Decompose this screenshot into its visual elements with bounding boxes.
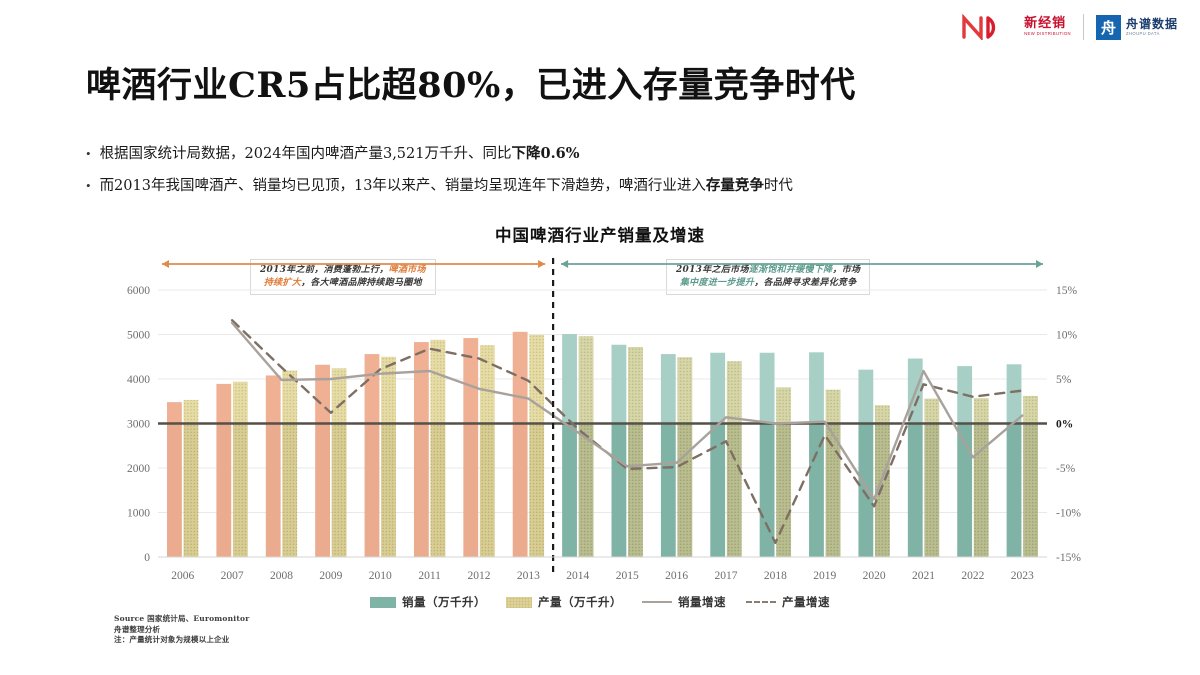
bar-sales: [513, 332, 528, 424]
bar-sales: [365, 424, 380, 558]
bullet-marker: •: [86, 144, 91, 163]
x-axis-tick: 2020: [863, 570, 886, 582]
bar-sales: [809, 352, 824, 423]
bar-output: [875, 405, 890, 423]
bar-sales: [1007, 424, 1022, 558]
line-sales-growth: [232, 323, 1022, 499]
y2-axis-tick: 15%: [1056, 285, 1078, 297]
chart-area: 0100020003000400050006000-15%-10%-5%0%5%…: [110, 252, 1095, 597]
new-distribution-logo: 新经销 NEW DISTRIBUTION: [961, 14, 1071, 40]
bar-sales: [266, 375, 281, 423]
bar-sales: [266, 424, 281, 558]
bar-output: [184, 400, 199, 424]
legend-label: 产量（万千升）: [538, 594, 622, 610]
bar-sales: [414, 424, 429, 558]
legend-label: 销量增速: [678, 594, 726, 610]
x-axis-tick: 2021: [912, 570, 935, 582]
bar-sales: [513, 424, 528, 558]
bar-output: [776, 424, 791, 558]
x-axis-tick: 2022: [961, 570, 984, 582]
bar-sales: [612, 424, 627, 558]
bar-sales: [661, 354, 676, 423]
bar-sales: [908, 424, 923, 558]
y-axis-tick: 1000: [127, 508, 150, 520]
bar-sales: [463, 424, 478, 558]
bar-output: [233, 424, 248, 558]
bar-sales: [315, 424, 330, 558]
x-axis-tick: 2023: [1011, 570, 1034, 582]
bullet-text: 根据国家统计局数据，2024年国内啤酒产量3,521万千升、同比下降0.6%: [100, 144, 580, 164]
legend-line-sales-growth: [642, 601, 672, 603]
bar-sales: [167, 402, 182, 423]
y2-axis-tick: 10%: [1056, 330, 1078, 342]
x-axis-tick: 2014: [566, 570, 589, 582]
bar-output: [924, 424, 939, 558]
list-item: • 根据国家统计局数据，2024年国内啤酒产量3,521万千升、同比下降0.6%: [86, 144, 1096, 164]
x-axis-tick: 2009: [319, 570, 342, 582]
bar-sales: [463, 338, 478, 423]
bar-sales: [216, 424, 231, 558]
logo-divider: [1083, 14, 1084, 40]
era-arrow-left-end-head: [538, 260, 545, 268]
y2-axis-tick: 0%: [1056, 419, 1073, 431]
x-axis-tick: 2016: [665, 570, 688, 582]
bar-sales: [661, 424, 676, 558]
bar-sales: [858, 424, 873, 558]
bar-output: [579, 336, 594, 423]
bar-output: [826, 390, 841, 424]
bar-output: [480, 345, 495, 423]
y2-axis-tick: 5%: [1056, 374, 1072, 386]
bar-output: [974, 424, 989, 558]
beer-production-sales-chart: 0100020003000400050006000-15%-10%-5%0%5%…: [110, 252, 1095, 597]
bar-output: [727, 424, 742, 558]
legend-label: 销量（万千升）: [402, 594, 486, 610]
bar-sales: [315, 365, 330, 424]
bar-sales: [710, 353, 725, 424]
bar-output: [529, 335, 544, 424]
bar-output: [431, 340, 446, 424]
x-axis-tick: 2007: [221, 570, 244, 582]
x-axis-tick: 2010: [369, 570, 392, 582]
nd-logo-en: NEW DISTRIBUTION: [1024, 32, 1071, 36]
bar-output: [628, 424, 643, 558]
y-axis-tick: 5000: [127, 330, 150, 342]
chart-title: 中国啤酒行业产销量及增速: [0, 222, 1200, 246]
bar-sales: [167, 424, 182, 558]
bar-output: [381, 424, 396, 558]
brand-logo-bar: 新经销 NEW DISTRIBUTION 舟 舟谱数据 ZHOUPU DATA: [961, 14, 1178, 40]
bar-output: [184, 424, 199, 558]
legend-swatch-sales: [370, 597, 396, 608]
bar-sales: [365, 354, 380, 423]
source-line-3: 注：产量统计对象为规模以上企业: [114, 635, 249, 646]
x-axis-tick: 2019: [813, 570, 836, 582]
nd-logo-cn: 新经销: [1024, 17, 1071, 30]
y-axis-tick: 2000: [127, 463, 150, 475]
bar-sales: [612, 345, 627, 424]
bar-output: [924, 399, 939, 424]
slide: 新经销 NEW DISTRIBUTION 舟 舟谱数据 ZHOUPU DATA …: [0, 0, 1200, 675]
x-axis-tick: 2006: [171, 570, 194, 582]
bar-output: [282, 424, 297, 558]
legend-item-sales-growth: 销量增速: [642, 594, 726, 610]
bar-output: [579, 424, 594, 558]
x-axis-tick: 2018: [764, 570, 787, 582]
zhoupu-logo-en: ZHOUPU DATA: [1126, 32, 1178, 36]
zhoupu-logo: 舟 舟谱数据 ZHOUPU DATA: [1096, 15, 1178, 40]
chart-legend: 销量（万千升） 产量（万千升） 销量增速 产量增速: [0, 594, 1200, 610]
bar-output: [529, 424, 544, 558]
zhoupu-mark-char: 舟: [1101, 17, 1116, 38]
source-line-2: 舟谱整理分析: [114, 625, 249, 636]
bar-output: [974, 398, 989, 423]
x-axis-tick: 2015: [616, 570, 639, 582]
legend-swatch-output: [506, 597, 532, 608]
bar-output: [1023, 396, 1038, 424]
x-axis-tick: 2008: [270, 570, 293, 582]
page-title: 啤酒行业CR5占比超80%，已进入存量竞争时代: [86, 57, 856, 108]
source-note: Source 国家统计局、Euromonitor 舟谱整理分析 注：产量统计对象…: [114, 614, 249, 646]
bar-sales: [216, 384, 231, 424]
y-axis-tick: 0: [144, 552, 150, 564]
bar-sales: [1007, 364, 1022, 423]
bar-output: [677, 424, 692, 558]
line-output-growth: [232, 320, 1022, 543]
y-axis-tick: 4000: [127, 374, 150, 386]
bar-output: [727, 361, 742, 423]
bar-output: [677, 357, 692, 423]
legend-item-sales-volume: 销量（万千升）: [370, 594, 486, 610]
zhoupu-logo-cn: 舟谱数据: [1126, 18, 1178, 30]
bar-sales: [858, 370, 873, 424]
y2-axis-tick: -15%: [1056, 552, 1081, 564]
nd-monogram-icon: [961, 14, 1019, 40]
y2-axis-tick: -10%: [1056, 508, 1081, 520]
bullet-list: • 根据国家统计局数据，2024年国内啤酒产量3,521万千升、同比下降0.6%…: [86, 144, 1096, 208]
bar-output: [480, 424, 495, 558]
list-item: • 而2013年我国啤酒产、销量均已见顶，13年以来产、销量均呈现连年下滑趋势，…: [86, 176, 1096, 196]
era-arrow-right-start-head: [561, 260, 568, 268]
y-axis-tick: 3000: [127, 419, 150, 431]
bar-sales: [562, 424, 577, 558]
bullet-text: 而2013年我国啤酒产、销量均已见顶，13年以来产、销量均呈现连年下滑趋势，啤酒…: [100, 176, 793, 196]
bar-output: [431, 424, 446, 558]
zhoupu-mark-icon: 舟: [1096, 15, 1121, 40]
bullet-marker: •: [86, 176, 91, 195]
source-line-1: Source 国家统计局、Euromonitor: [114, 614, 249, 625]
legend-line-output-growth: [746, 601, 776, 603]
legend-item-output-volume: 产量（万千升）: [506, 594, 622, 610]
legend-item-output-growth: 产量增速: [746, 594, 830, 610]
x-axis-tick: 2013: [517, 570, 540, 582]
bar-output: [233, 382, 248, 424]
y2-axis-tick: -5%: [1056, 463, 1076, 475]
y-axis-tick: 6000: [127, 285, 150, 297]
bar-sales: [562, 334, 577, 423]
bar-output: [332, 424, 347, 558]
bar-output: [1023, 424, 1038, 558]
bar-output: [776, 387, 791, 423]
legend-label: 产量增速: [782, 594, 830, 610]
x-axis-tick: 2012: [468, 570, 491, 582]
x-axis-tick: 2017: [714, 570, 737, 582]
bar-sales: [760, 353, 775, 424]
x-axis-tick: 2011: [418, 570, 441, 582]
bar-output: [628, 347, 643, 424]
